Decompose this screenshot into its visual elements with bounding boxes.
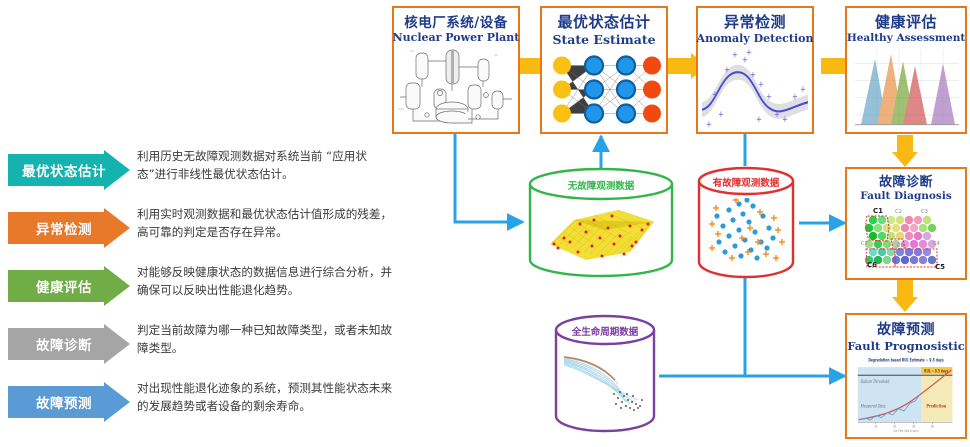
database-fault-free[interactable]: 无故障观测数据 (522, 166, 680, 278)
svg-text:C7: C7 (861, 241, 868, 247)
svg-text:C5: C5 (935, 263, 945, 271)
database-label: 有故障观测数据 (693, 175, 799, 189)
flow-box-fault-prognosistic[interactable]: 故障预测 Fault Prognosistic Degradation base… (845, 313, 967, 439)
database-label: 无故障观测数据 (522, 178, 680, 192)
flow-box-title-cn: 核电厂系统/设备 (404, 11, 507, 31)
som-cluster-map-icon: C1 C6 C2C3 C4C7C8 C5 (847, 202, 965, 278)
svg-text:+: + (758, 80, 764, 90)
svg-text:C3: C3 (921, 209, 928, 215)
svg-text:+: + (712, 89, 718, 99)
flow-box-nuclear-power-plant[interactable]: 核电厂系统/设备 Nuclear Power Plant (392, 6, 520, 134)
measured-data-label: Measured Data (860, 403, 886, 409)
arrow-tag-label: 故障预测 (36, 392, 102, 412)
svg-text:+: + (750, 70, 756, 80)
flow-box-title-cn: 故障诊断 (879, 171, 933, 190)
arrow-tag-fault-prognosis[interactable]: 故障预测 (8, 382, 130, 422)
arrow-tag-anomaly-detection[interactable]: 异常检测 (8, 208, 130, 248)
flow-box-healthy-assessment[interactable]: 健康评估 Healthy Assessment (845, 6, 967, 134)
flow-box-anomaly-detection[interactable]: 异常检测 Anomaly Detection +++ +++ +++ +++ +… (696, 6, 814, 134)
arrow-tag-state-estimate[interactable]: 最优状态估计 (8, 150, 130, 190)
svg-text:+: + (706, 119, 712, 129)
svg-text:+: + (756, 114, 762, 124)
svg-text:+: + (792, 92, 798, 102)
svg-text:30: 30 (912, 424, 915, 429)
distributions-icon (847, 44, 965, 132)
flow-box-title-cn: 最优状态估计 (557, 11, 650, 32)
list-item-description: 对能够反映健康状态的数据信息进行综合分析，并确保可以反映出性能退化趋势。 (137, 264, 395, 300)
chart-xlabel: Life Time (Unit in days) (893, 429, 918, 433)
arrow-tag-label: 故障诊断 (36, 334, 102, 354)
svg-text:10: 10 (874, 424, 877, 429)
failure-threshold-label: Failure Threshold (860, 379, 890, 385)
capability-list: 最优状态估计 利用历史无故障观测数据对系统当前 “应用状态”进行非线性最优状态估… (0, 150, 392, 430)
flow-box-title-en: Healthy Assessment (847, 32, 965, 44)
arrow-tag-health-assessment[interactable]: 健康评估 (8, 266, 130, 306)
list-item[interactable]: 异常检测 利用实时观测数据和最优状态估计值形成的残差，高可靠的判定是否存在异常。 (0, 208, 392, 252)
svg-text:C6: C6 (867, 261, 877, 269)
svg-text:C2: C2 (895, 209, 902, 215)
list-item[interactable]: 健康评估 对能够反映健康状态的数据信息进行综合分析，并确保可以反映出性能退化趋势… (0, 266, 392, 310)
neural-network-icon (542, 47, 666, 132)
cluster-label: C1 (873, 207, 883, 215)
flow-arrow-health-to-diagnosis (892, 135, 918, 167)
anomaly-curve-icon: +++ +++ +++ +++ +++ (698, 45, 812, 132)
svg-text:C8: C8 (897, 243, 904, 249)
list-item-description: 利用历史无故障观测数据对系统当前 “应用状态”进行非线性最优状态估计。 (137, 148, 395, 184)
svg-text:20: 20 (893, 424, 896, 429)
flow-box-title-en: Fault Diagnosis (860, 190, 952, 202)
flow-box-title-en: State Estimate (552, 32, 655, 47)
degradation-trajectories-icon (560, 350, 650, 416)
svg-text:+: + (774, 109, 780, 119)
svg-text:+: + (766, 92, 772, 102)
flow-box-title-en: Anomaly Detection (697, 32, 814, 45)
list-item[interactable]: 最优状态估计 利用历史无故障观测数据对系统当前 “应用状态”进行非线性最优状态估… (0, 150, 392, 194)
flow-box-title-en: Fault Prognosistic (847, 339, 964, 353)
svg-text:+: + (718, 109, 724, 119)
arrow-tag-fault-diagnosis[interactable]: 故障诊断 (8, 324, 130, 364)
database-lifecycle[interactable]: 全生命周期数据 (550, 312, 660, 436)
wire-plant-to-faultfree-db (455, 133, 523, 222)
list-item-description: 利用实时观测数据和最优状态估计值形成的残差，高可靠的判定是否存在异常。 (137, 206, 395, 242)
rul-badge: RUL ~ 9.5 days (924, 369, 948, 374)
svg-text:+: + (732, 50, 738, 60)
svg-text:C4: C4 (933, 241, 941, 247)
list-item-description: 对出现性能退化迹象的系统，预测其性能状态未来的发展趋势或者设备的剩余寿命。 (137, 380, 395, 416)
flow-arrow-diagnosis-to-prognosis (892, 280, 918, 312)
arrow-tag-label: 最优状态估计 (22, 160, 116, 180)
svg-text:+: + (746, 47, 752, 57)
surface-mesh-3d-icon (544, 202, 660, 264)
database-label: 全生命周期数据 (550, 324, 660, 338)
flow-box-fault-diagnosis[interactable]: 故障诊断 Fault Diagnosis (845, 167, 967, 280)
list-item[interactable]: 故障预测 对出现性能退化迹象的系统，预测其性能状态未来的发展趋势或者设备的剩余寿… (0, 382, 392, 426)
list-item[interactable]: 故障诊断 判定当前故障为哪一种已知故障类型，或者未知故障类型。 (0, 324, 392, 368)
svg-text:+: + (724, 65, 730, 75)
plant-schematic-icon (394, 44, 518, 132)
flow-box-title-cn: 健康评估 (875, 11, 937, 32)
rul-degradation-chart-icon: Degradation based RUL Estimate ~ 9.5 day… (847, 353, 965, 437)
database-faulty[interactable]: 有故障观测数据 (693, 164, 799, 280)
flow-box-title-en: Nuclear Power Plant (393, 31, 520, 44)
prediction-label: Prediction (926, 403, 946, 409)
chart-title: Degradation based RUL Estimate ~ 9.5 day… (868, 358, 944, 363)
flow-box-title-cn: 故障预测 (877, 319, 935, 339)
arrow-tag-label: 异常检测 (36, 218, 102, 238)
flow-box-title-cn: 异常检测 (724, 11, 786, 32)
svg-text:+: + (782, 114, 788, 124)
svg-text:+: + (800, 85, 806, 95)
svg-text:40: 40 (931, 424, 934, 429)
flow-box-state-estimate[interactable]: 最优状态估计 State Estimate (540, 6, 668, 134)
arrow-tag-label: 健康评估 (36, 276, 102, 296)
scatter-dots-icon (705, 198, 787, 262)
list-item-description: 判定当前故障为哪一种已知故障类型，或者未知故障类型。 (137, 322, 395, 358)
